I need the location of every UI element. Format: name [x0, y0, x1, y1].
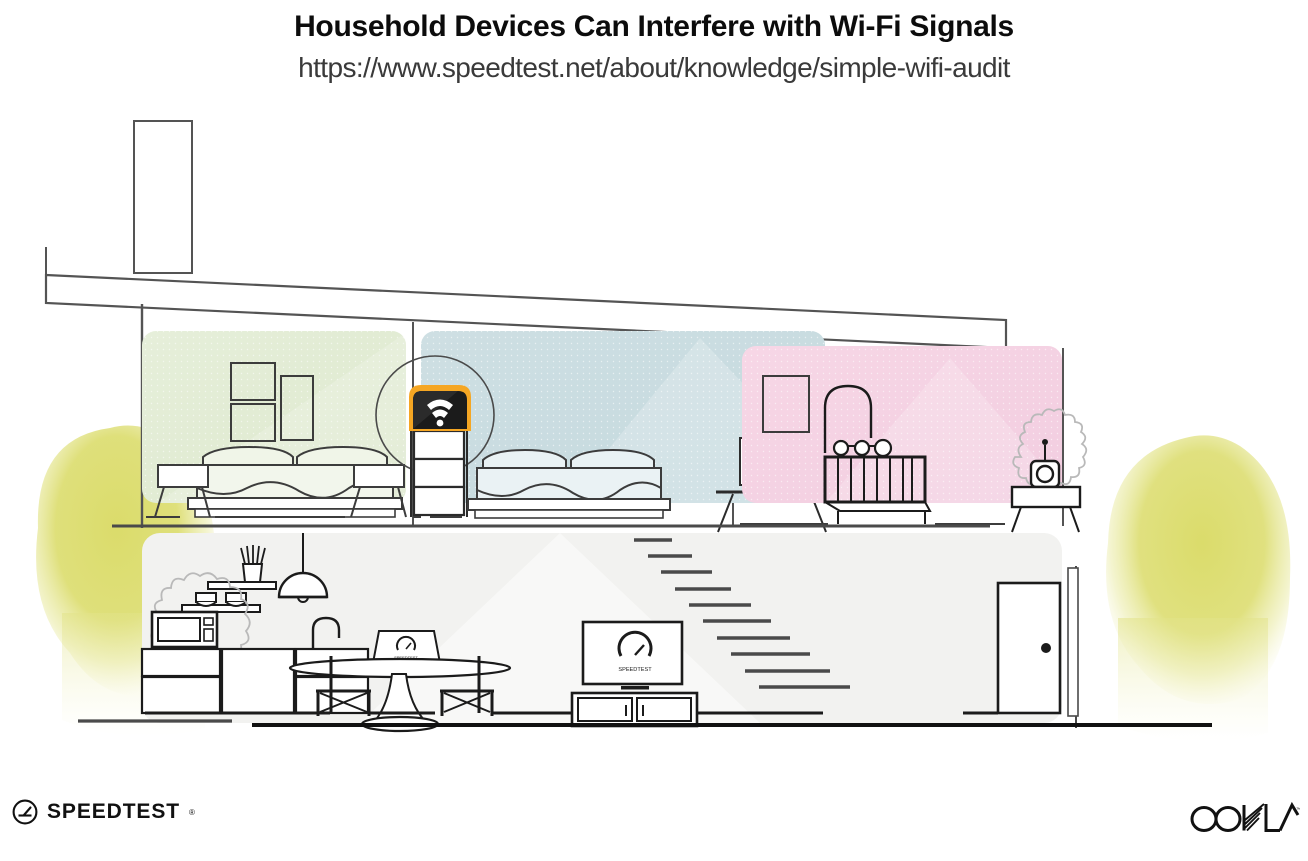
infographic-page: Household Devices Can Interfere with Wi-…	[0, 0, 1308, 861]
footer: SPEEDTEST ® ™ OOKLA	[0, 799, 1308, 839]
tv-screen-label: SPEEDTEST	[618, 667, 652, 673]
speedtest-wordmark: SPEEDTEST	[47, 800, 180, 824]
speedtest-gauge-icon	[12, 799, 38, 825]
ookla-logo[interactable]: ™ OOKLA	[1190, 801, 1300, 840]
chimney	[134, 121, 192, 273]
tv-area: SPEEDTEST	[572, 622, 697, 726]
room-living-kitchen: SPEEDTEST	[142, 533, 1062, 731]
door-knob[interactable]	[1041, 643, 1051, 653]
header: Household Devices Can Interfere with Wi-…	[0, 0, 1308, 83]
television[interactable]: SPEEDTEST	[583, 622, 682, 690]
page-title: Household Devices Can Interfere with Wi-…	[0, 10, 1308, 45]
speedtest-logo[interactable]: SPEEDTEST ®	[12, 799, 195, 825]
speedtest-trademark: ®	[189, 808, 195, 817]
shelf-unit	[411, 428, 467, 517]
media-console	[572, 693, 697, 726]
foliage-right	[1106, 435, 1290, 741]
right-pillar	[1068, 566, 1078, 728]
source-url: https://www.speedtest.net/about/knowledg…	[0, 53, 1308, 84]
house-illustration: SPEEDTEST	[0, 108, 1308, 748]
ookla-trademark: ™	[1296, 807, 1300, 813]
front-door[interactable]	[998, 583, 1060, 713]
side-table-nursery	[1012, 487, 1080, 532]
room-bedroom-green	[142, 323, 420, 517]
wifi-router[interactable]	[409, 385, 471, 431]
ookla-wordmark-icon: ™	[1190, 801, 1300, 835]
room-nursery-pink	[740, 346, 1086, 532]
